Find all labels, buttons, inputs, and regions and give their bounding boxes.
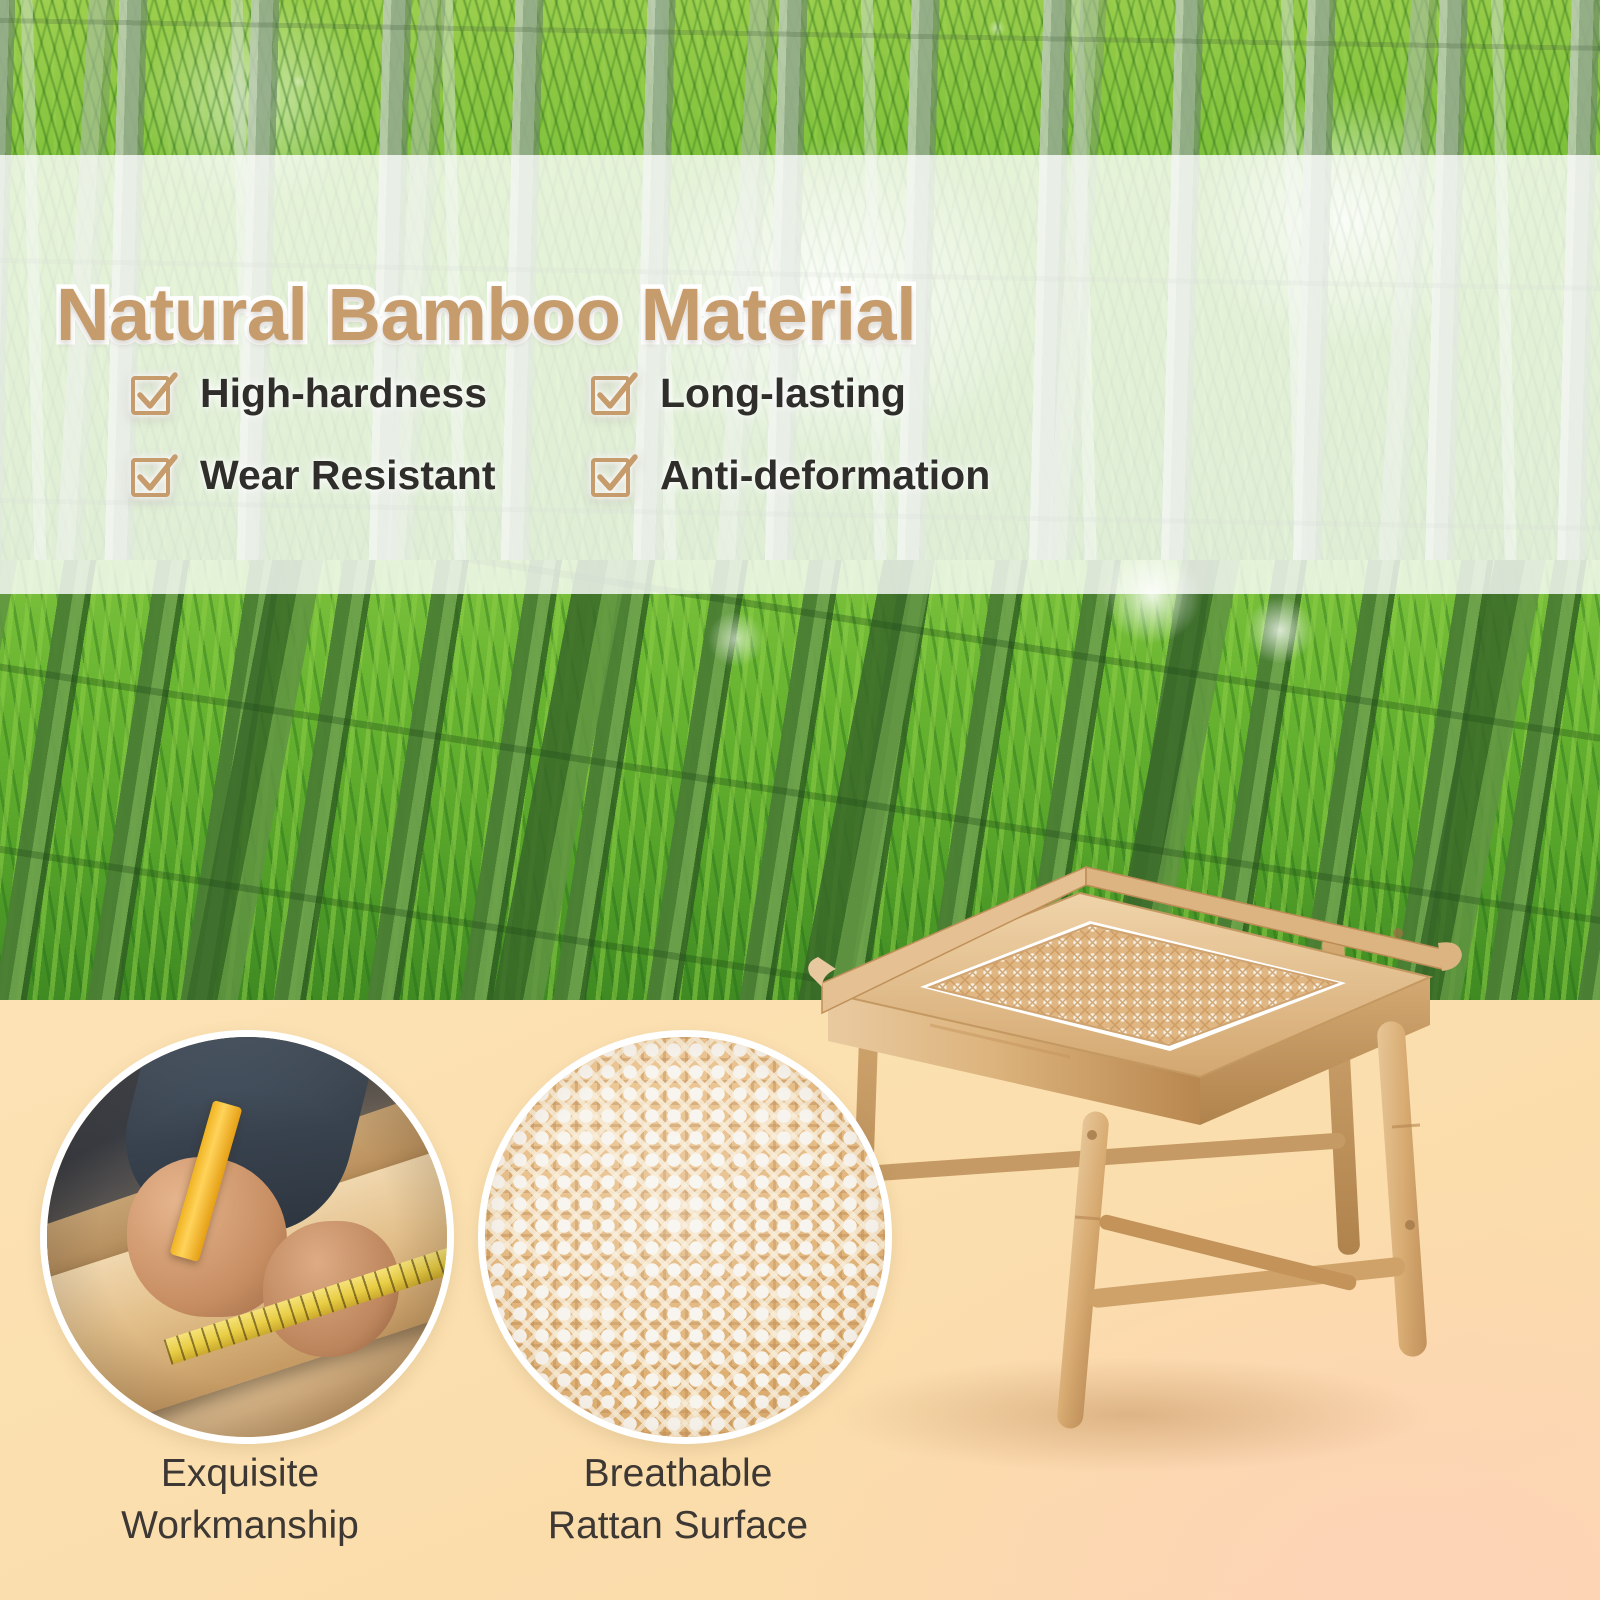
stool-screw-dot	[1393, 928, 1403, 938]
feature-label: Anti-deformation	[660, 452, 990, 499]
feature-item-anti-deformation: Anti-deformation	[590, 434, 1050, 516]
rattan-cane-weave-closeup	[485, 1037, 885, 1437]
caption-line-2: Rattan Surface	[478, 1500, 878, 1552]
feature-list: High-hardness Long-lasting Wear Resistan…	[130, 352, 1190, 516]
product-marketing-banner: Natural Bamboo Material High-hardness Lo…	[0, 0, 1600, 1600]
caption-line-1: Breathable	[478, 1448, 878, 1500]
feature-label: Wear Resistant	[200, 452, 495, 499]
rattan-shading	[485, 1037, 885, 1437]
checkbox-checked-icon	[590, 369, 638, 417]
highlight-caption-workmanship: Exquisite Workmanship	[40, 1448, 440, 1553]
checkbox-checked-icon	[130, 369, 178, 417]
stool-horn-right	[1438, 942, 1462, 971]
feature-item-high-hardness: High-hardness	[130, 352, 590, 434]
highlight-image-rattan	[478, 1030, 892, 1444]
stool-node-line	[1075, 1217, 1100, 1219]
checkbox-checked-icon	[590, 451, 638, 499]
stool-floor-shadow	[830, 1357, 1430, 1473]
bamboo-rattan-stool-product-image	[770, 725, 1570, 1525]
stool-screw-dot	[1405, 1220, 1415, 1230]
stool-leg-front-right	[1376, 1020, 1427, 1357]
feature-label: High-hardness	[200, 370, 487, 417]
stool-node-line	[1392, 1125, 1420, 1127]
carpenter-measuring-wood-photo	[47, 1037, 447, 1437]
caption-line-1: Exquisite	[40, 1448, 440, 1500]
caption-line-2: Workmanship	[40, 1500, 440, 1552]
highlight-caption-rattan: Breathable Rattan Surface	[478, 1448, 878, 1553]
feature-item-long-lasting: Long-lasting	[590, 352, 1050, 434]
feature-item-wear-resistant: Wear Resistant	[130, 434, 590, 516]
photo-vignette	[47, 1037, 447, 1437]
feature-label: Long-lasting	[660, 370, 906, 417]
page-title: Natural Bamboo Material	[56, 278, 1136, 352]
highlight-image-workmanship	[40, 1030, 454, 1444]
checkbox-checked-icon	[130, 451, 178, 499]
stool-screw-dot	[1087, 1130, 1097, 1140]
